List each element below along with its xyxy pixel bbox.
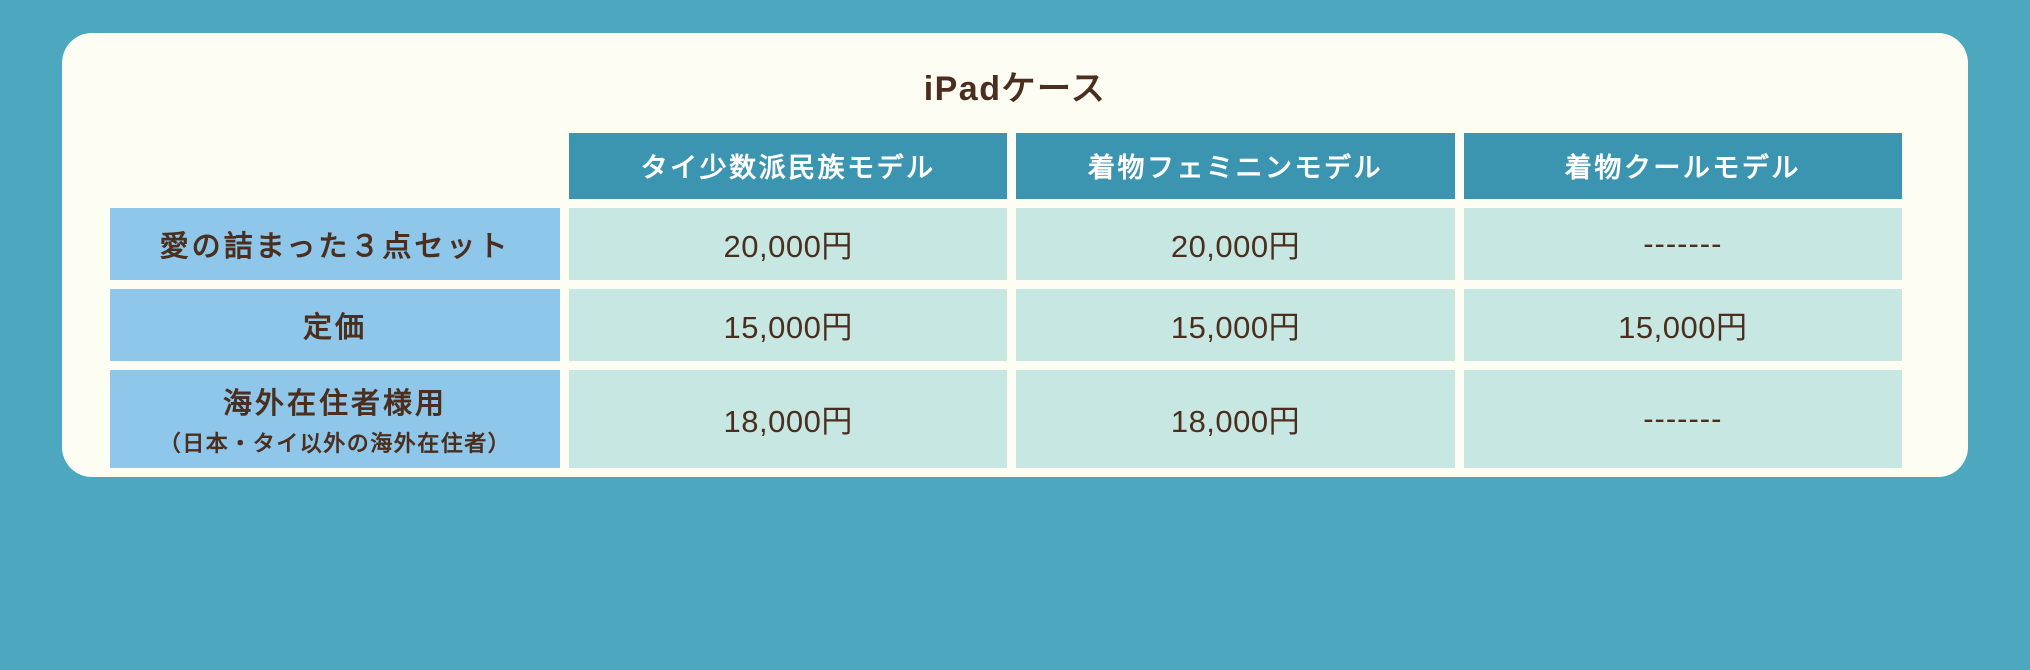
cell-list-price-kimono-cool: 15,000円 bbox=[1464, 289, 1902, 361]
table-head: タイ少数派民族モデル 着物フェミニンモデル 着物クールモデル bbox=[110, 133, 1902, 199]
column-header-kimono-feminine-model: 着物フェミニンモデル bbox=[1016, 133, 1454, 199]
pricing-table: タイ少数派民族モデル 着物フェミニンモデル 着物クールモデル 愛の詰まった３点セ… bbox=[101, 124, 1911, 477]
screenshot-root: iPadケース タイ少数派民族モデル 着物フェミニンモデル 着物クールモデル bbox=[0, 0, 2030, 670]
row-header-list-price: 定価 bbox=[110, 289, 560, 361]
row-header-overseas-resident: 海外在住者様用 （日本・タイ以外の海外在住者） bbox=[110, 370, 560, 468]
column-header-kimono-cool-model: 着物クールモデル bbox=[1464, 133, 1902, 199]
cell-overseas-resident-thai-ethnic: 18,000円 bbox=[569, 370, 1007, 468]
cell-overseas-resident-kimono-feminine: 18,000円 bbox=[1016, 370, 1454, 468]
cell-three-piece-set-thai-ethnic: 20,000円 bbox=[569, 208, 1007, 280]
cell-three-piece-set-kimono-feminine: 20,000円 bbox=[1016, 208, 1454, 280]
table-corner-cell bbox=[110, 133, 560, 199]
column-header-thai-ethnic-model: タイ少数派民族モデル bbox=[569, 133, 1007, 199]
cell-list-price-kimono-feminine: 15,000円 bbox=[1016, 289, 1454, 361]
row-header-three-piece-set: 愛の詰まった３点セット bbox=[110, 208, 560, 280]
cell-list-price-thai-ethnic: 15,000円 bbox=[569, 289, 1007, 361]
not-available-dash: ------- bbox=[1643, 226, 1722, 262]
row-label-text: 海外在住者様用 bbox=[223, 388, 447, 420]
pricing-card: iPadケース タイ少数派民族モデル 着物フェミニンモデル 着物クールモデル bbox=[62, 33, 1968, 477]
cell-three-piece-set-kimono-cool: ------- bbox=[1464, 208, 1902, 280]
table-header-row: タイ少数派民族モデル 着物フェミニンモデル 着物クールモデル bbox=[110, 133, 1902, 199]
table-row-overseas-resident: 海外在住者様用 （日本・タイ以外の海外在住者） 18,000円 18,000円 … bbox=[110, 370, 1902, 468]
row-label-text: 愛の詰まった３点セット bbox=[160, 231, 511, 263]
row-label-subtext: （日本・タイ以外の海外在住者） bbox=[120, 426, 550, 458]
table-row-list-price: 定価 15,000円 15,000円 15,000円 bbox=[110, 289, 1902, 361]
table-body: 愛の詰まった３点セット 20,000円 20,000円 ------- 定価 1… bbox=[110, 208, 1902, 468]
table-row-three-piece-set: 愛の詰まった３点セット 20,000円 20,000円 ------- bbox=[110, 208, 1902, 280]
not-available-dash: ------- bbox=[1643, 401, 1722, 437]
page-title: iPadケース bbox=[110, 55, 1920, 122]
row-label-text: 定価 bbox=[303, 312, 367, 344]
cell-overseas-resident-kimono-cool: ------- bbox=[1464, 370, 1902, 468]
